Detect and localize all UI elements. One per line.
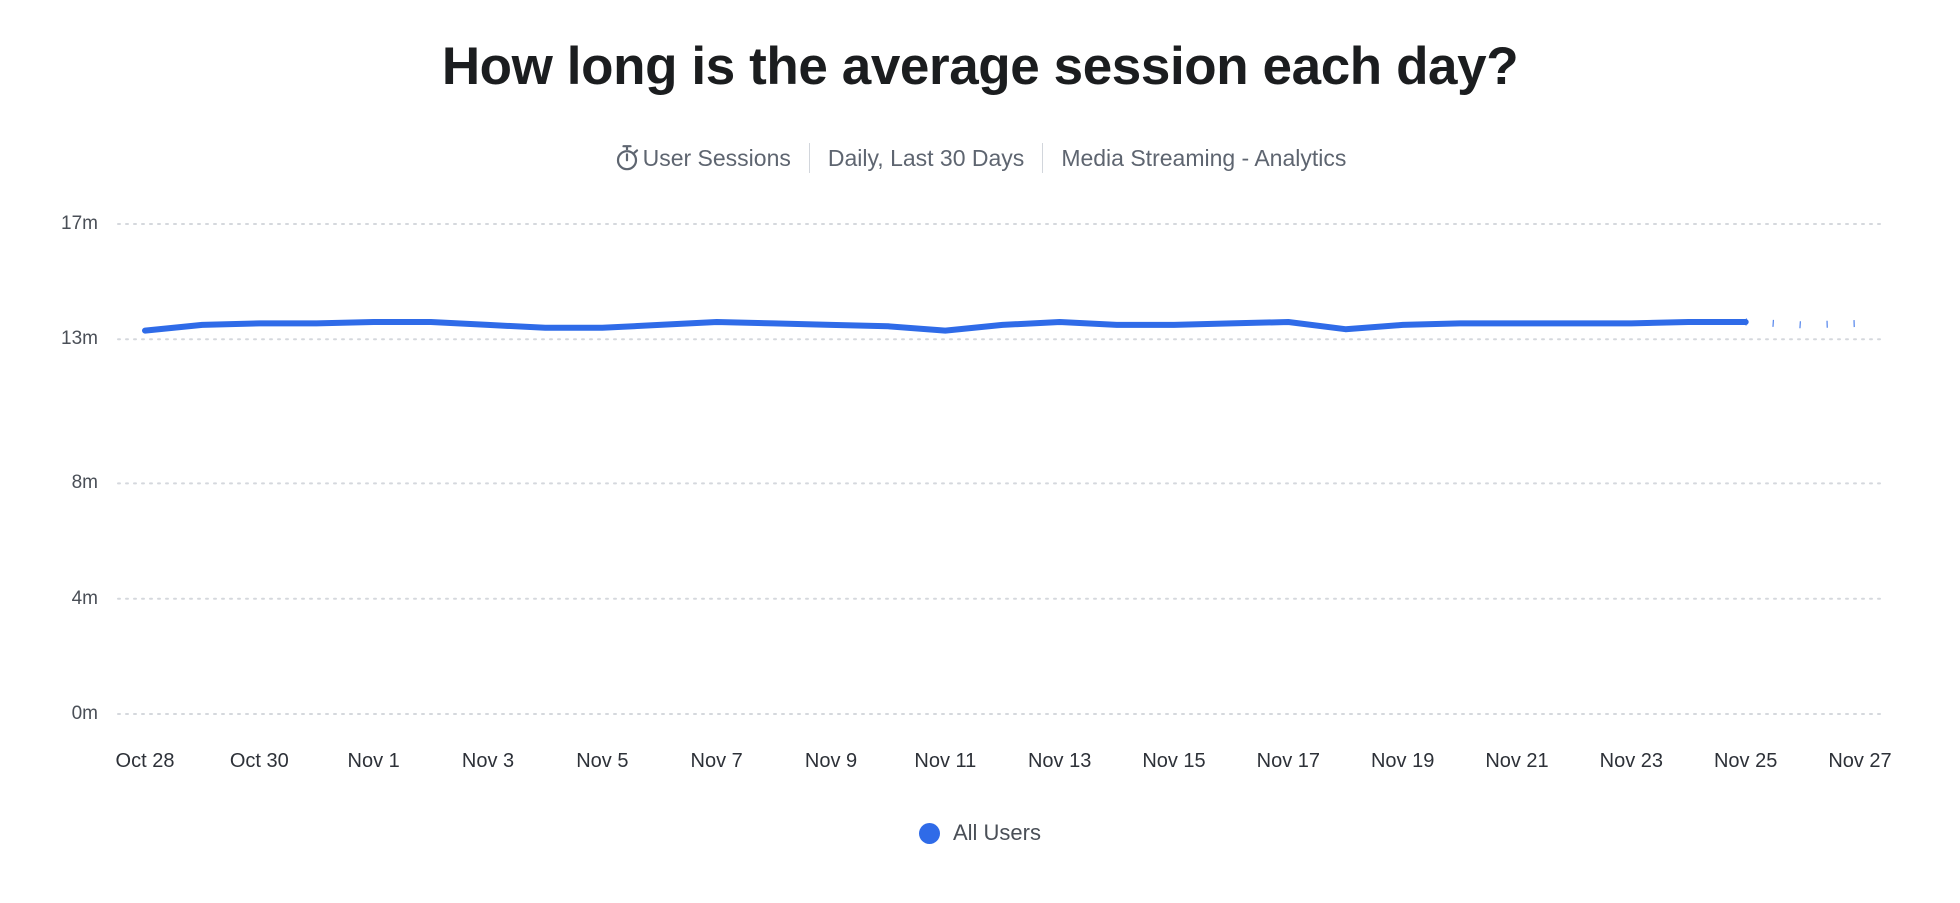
x-axis-label: Nov 11 [914, 750, 976, 773]
y-axis-label: 13m [0, 328, 98, 350]
chart-page: How long is the average session each day… [0, 0, 1960, 898]
x-axis-label: Nov 25 [1714, 750, 1777, 773]
y-axis-label: 8m [0, 472, 98, 494]
x-axis-label: Nov 15 [1142, 750, 1205, 773]
x-axis-label: Nov 19 [1371, 750, 1434, 773]
x-axis-label: Nov 5 [576, 750, 628, 773]
chart-legend: All Users [0, 820, 1960, 846]
y-axis-label: 4m [0, 588, 98, 610]
chart-canvas [0, 0, 1960, 898]
y-axis-label: 0m [0, 703, 98, 725]
y-axis-label: 17m [0, 213, 98, 235]
x-axis-label: Nov 3 [462, 750, 514, 773]
x-axis-label: Oct 30 [230, 750, 289, 773]
x-axis-label: Nov 27 [1828, 750, 1891, 773]
x-axis-label: Nov 17 [1257, 750, 1320, 773]
x-axis-label: Nov 23 [1600, 750, 1663, 773]
x-axis-label: Nov 9 [805, 750, 857, 773]
x-axis-label: Nov 1 [348, 750, 400, 773]
x-axis-label: Oct 28 [116, 750, 175, 773]
x-axis-label: Nov 7 [691, 750, 743, 773]
line-chart-plot: 0m4m8m13m17mOct 28Oct 30Nov 1Nov 3Nov 5N… [0, 0, 1960, 898]
x-axis-label: Nov 21 [1485, 750, 1548, 773]
x-axis-label: Nov 13 [1028, 750, 1091, 773]
legend-swatch-all-users [919, 823, 940, 844]
legend-label-all-users: All Users [953, 820, 1041, 846]
